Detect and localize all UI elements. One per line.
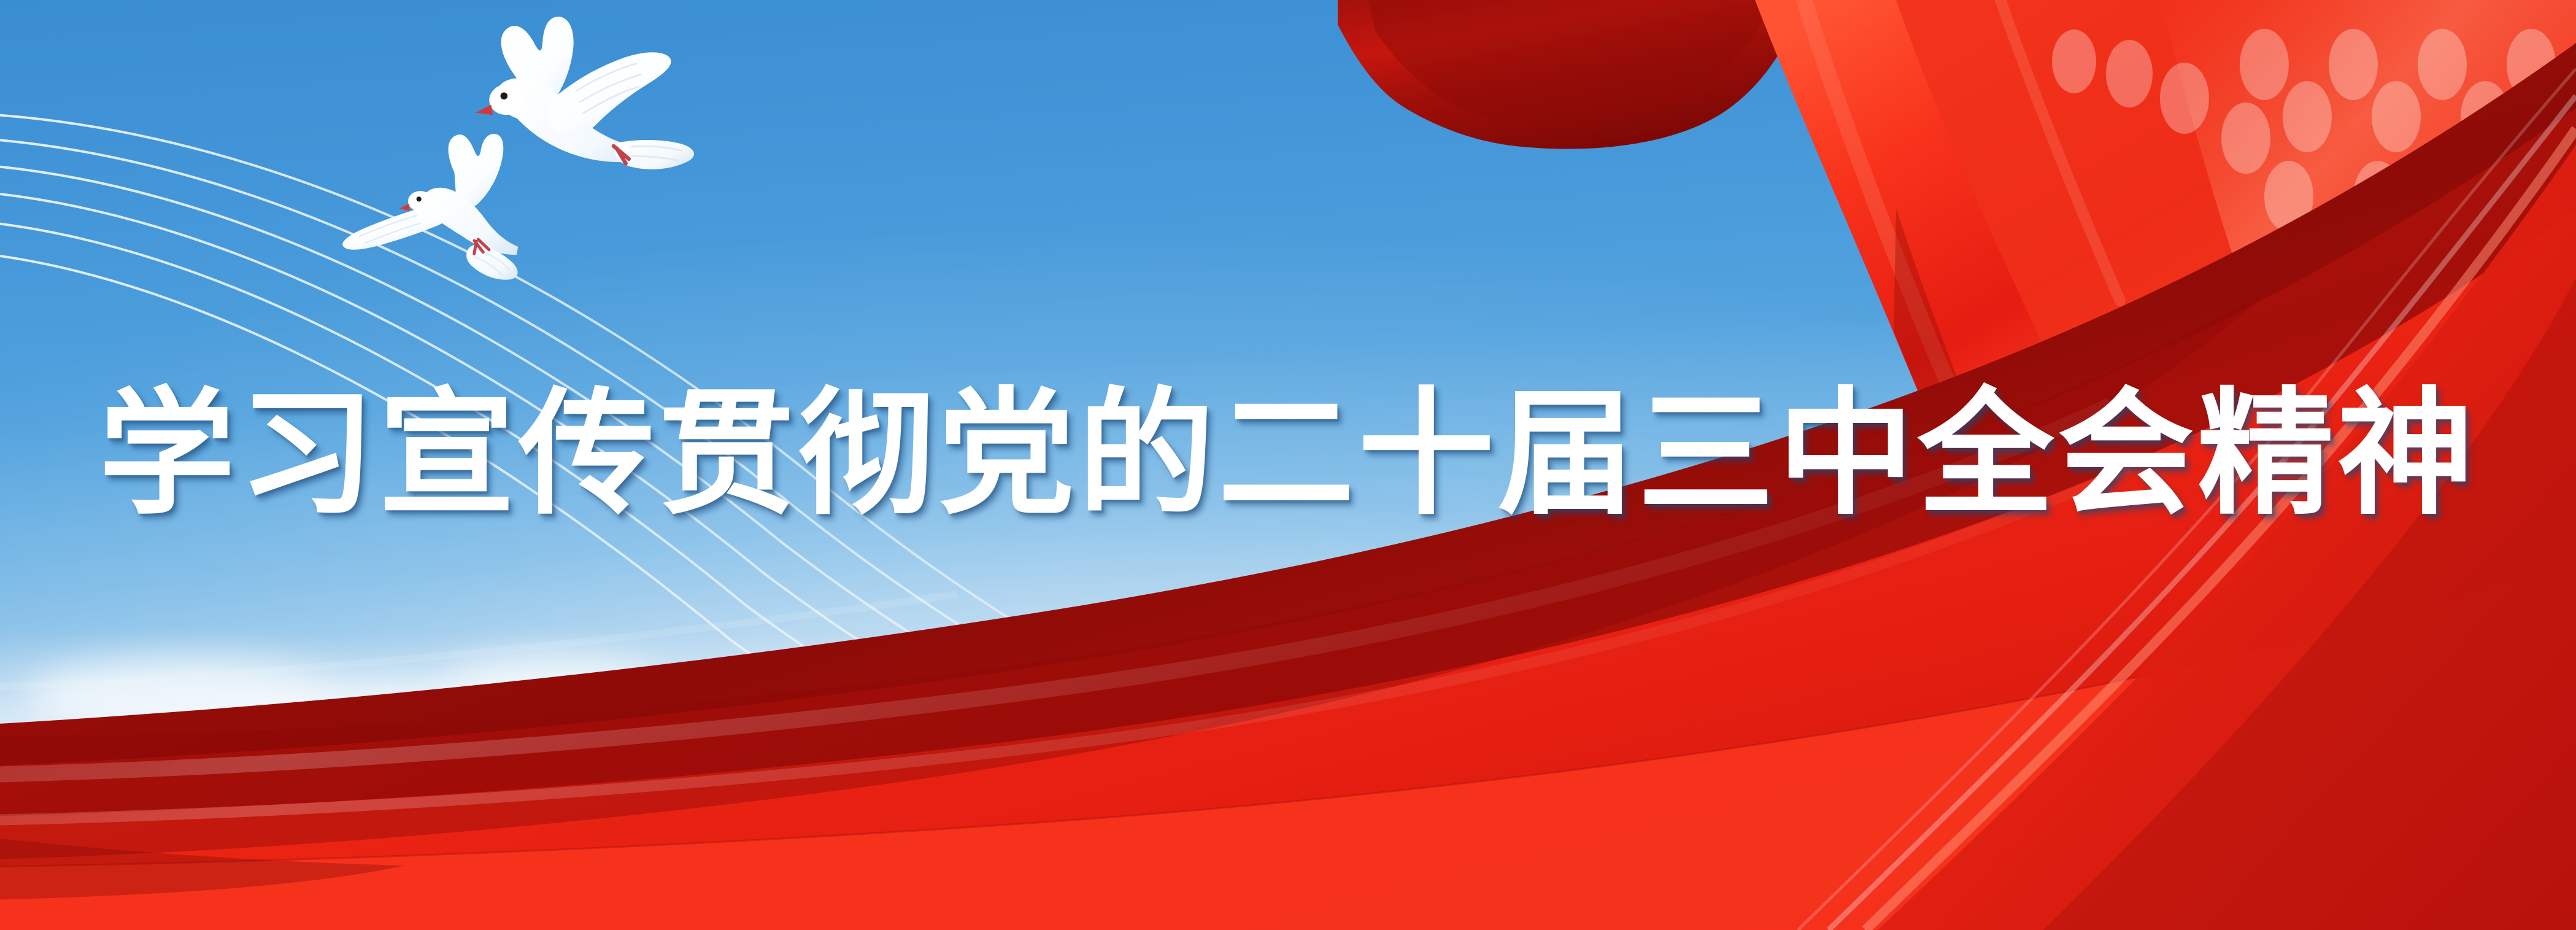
propaganda-banner: 学习宣传贯彻党的二十届三中全会精神 (0, 0, 2576, 930)
bottom-red-waves (0, 0, 2576, 930)
